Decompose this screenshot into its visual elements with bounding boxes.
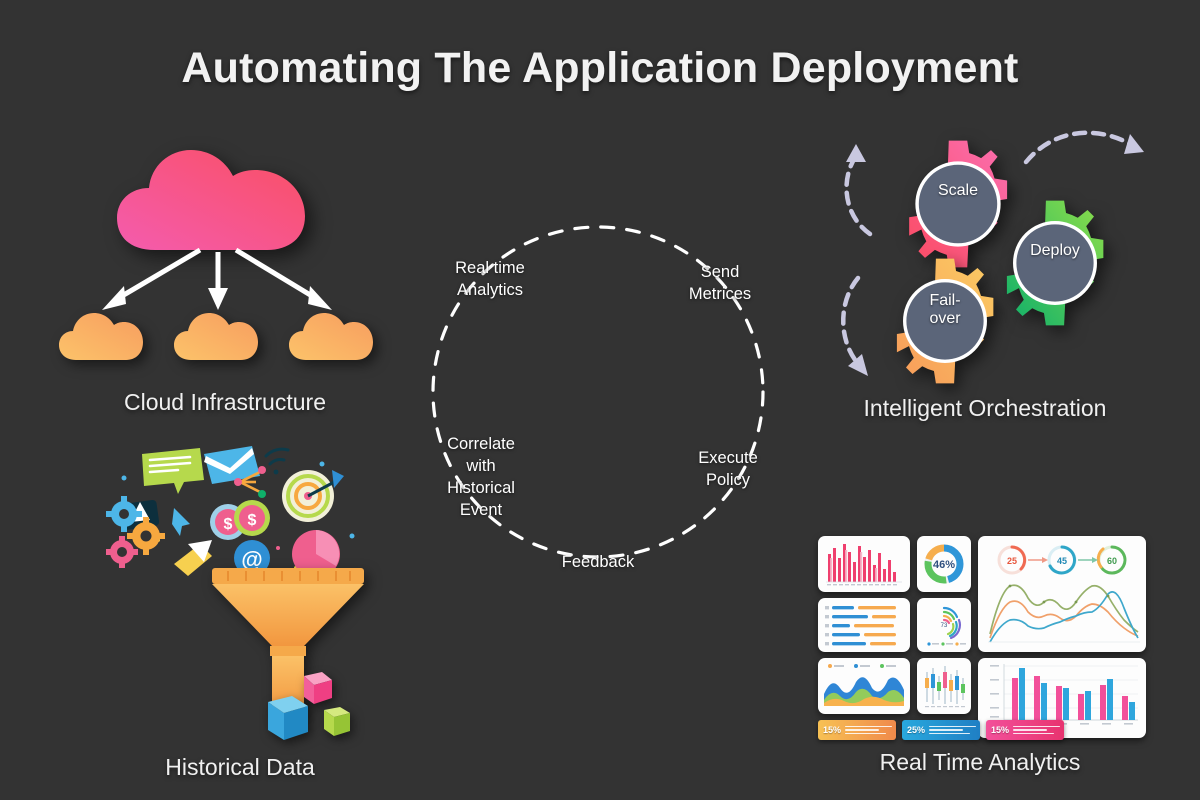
cycle-step-send-metrices: Send Metrices (650, 262, 790, 306)
historical-data-caption: Historical Data (20, 754, 460, 781)
cycle-step-correlate-historical: Correlate with Historical Event (406, 434, 556, 522)
stat-badge-2-value: 25% (907, 725, 925, 735)
chart-card-horizontal-bars[interactable] (818, 598, 910, 652)
stat-badge-3[interactable]: 15% (986, 720, 1064, 740)
stat-badge-1-value: 15% (823, 725, 841, 735)
rotation-arrow-top-right-icon (1020, 120, 1150, 180)
coins-dollar-icon: $ $ (210, 500, 270, 540)
historical-data-illustration: $ $ (100, 440, 420, 750)
cloud-distribution-arrows (40, 120, 420, 390)
rotation-arrow-left-top-icon (830, 134, 890, 244)
stacked-area-chart (818, 658, 910, 714)
megaphone-icon (174, 540, 212, 576)
gauge-25: 25 (999, 547, 1025, 573)
chart-card-multi-line[interactable]: 25 45 60 (978, 536, 1146, 652)
gauge-45: 45 (1049, 547, 1075, 573)
gauge-60: 60 (1098, 547, 1125, 573)
chart-card-donut[interactable]: 46% (917, 536, 971, 592)
chat-bubble-icon (142, 448, 204, 494)
page-title: Automating The Application Deployment (0, 44, 1200, 93)
cloud-infrastructure-illustration (40, 120, 420, 390)
vertical-bar-chart (818, 536, 910, 592)
cloud-infrastructure-caption: Cloud Infrastructure (0, 389, 450, 416)
real-time-analytics-caption: Real Time Analytics (760, 749, 1200, 776)
stat-badge-2-lines (929, 726, 980, 735)
stat-badge-1[interactable]: 15% (818, 720, 896, 740)
cube-green (324, 707, 350, 736)
multi-line-chart: 25 45 60 (978, 536, 1146, 652)
cycle-step-feedback: Feedback (518, 552, 678, 574)
cube-blue (268, 696, 308, 740)
data-cubes-icon (258, 670, 368, 745)
cube-pink (304, 672, 332, 704)
cursor-icon (172, 508, 190, 536)
donut-center-value: 46% (933, 559, 955, 571)
radial-spiral-chart: 73 (917, 598, 971, 652)
analytics-dashboard-illustration: 46% 73 (812, 532, 1152, 742)
stat-badge-3-value: 15% (991, 725, 1009, 735)
gauge-value-2: 45 (1057, 556, 1067, 566)
wifi-signal-icon (266, 449, 288, 474)
chart-card-vertical-bars[interactable] (818, 536, 910, 592)
stat-badge-2[interactable]: 25% (902, 720, 980, 740)
svg-text:$: $ (224, 516, 233, 533)
intelligent-orchestration-illustration: Scale Deploy Fail- over (830, 120, 1160, 390)
candlestick-chart (917, 658, 971, 714)
gauge-value-3: 60 (1107, 556, 1117, 566)
stat-badge-3-lines (1013, 726, 1064, 735)
spiral-center-value: 73 (941, 623, 948, 629)
target-arrow-icon (282, 470, 344, 522)
infographic-canvas: Automating The Application Deployment (0, 0, 1200, 800)
chart-card-candlestick[interactable] (917, 658, 971, 714)
stat-badge-1-lines (845, 726, 896, 735)
svg-text:$: $ (248, 512, 257, 529)
envelope-icon (204, 446, 260, 484)
feedback-cycle-diagram: Real time Analytics Send Metrices Execut… (400, 200, 800, 620)
intelligent-orchestration-caption: Intelligent Orchestration (760, 395, 1200, 422)
donut-chart: 46% (917, 536, 971, 592)
chart-card-spiral-radial[interactable]: 73 (917, 598, 971, 652)
cycle-step-real-time-analytics: Real time Analytics (420, 258, 560, 302)
gear-failover-icon[interactable] (880, 256, 1010, 386)
horizontal-bar-chart (818, 598, 910, 652)
chart-card-stacked-area[interactable] (818, 658, 910, 714)
cycle-step-execute-policy: Execute Policy (658, 448, 798, 492)
gauge-value-1: 25 (1007, 556, 1017, 566)
